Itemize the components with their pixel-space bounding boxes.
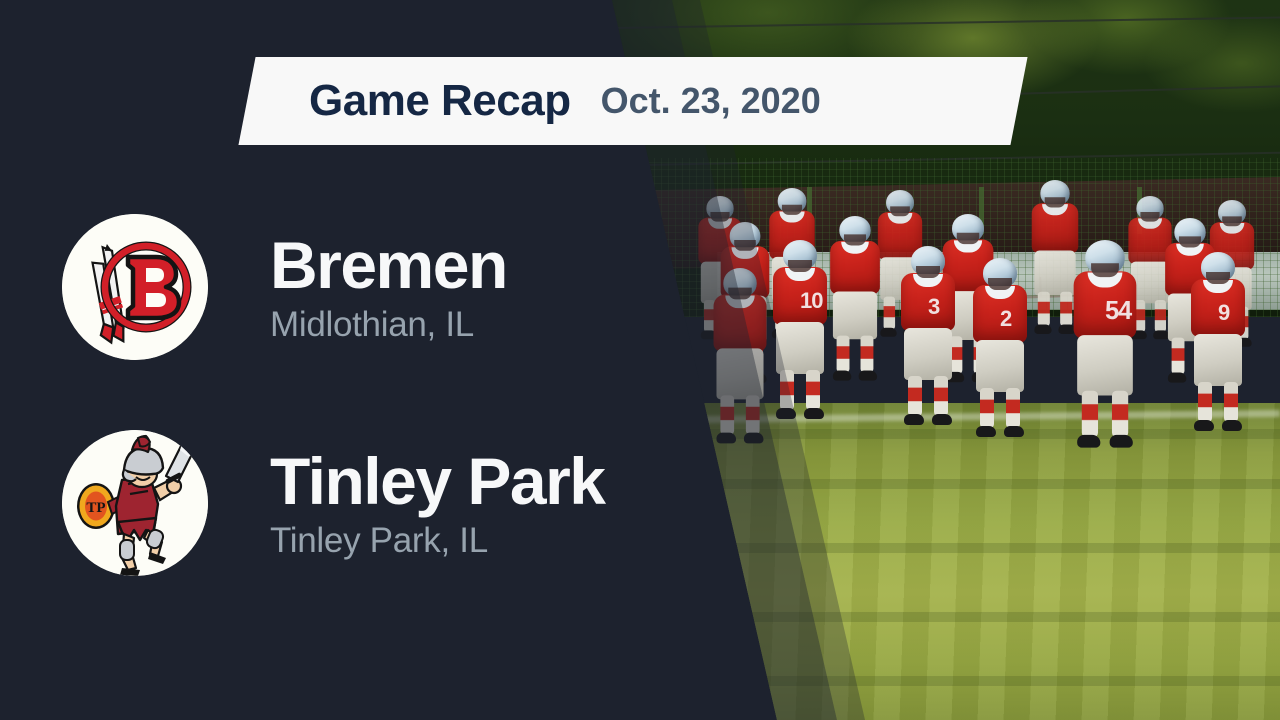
team-city: Tinley Park, IL	[270, 523, 604, 558]
team-row-bremen[interactable]: Bremen Midlothian, IL	[0, 214, 507, 360]
tinley-park-titans-logo: TP	[62, 430, 208, 576]
game-date: Oct. 23, 2020	[601, 83, 821, 119]
team-text-tinley-park: Tinley Park Tinley Park, IL	[270, 448, 604, 558]
game-recap-banner: Game Recap Oct. 23, 2020	[238, 57, 1027, 145]
svg-text:TP: TP	[86, 500, 105, 516]
team-name: Bremen	[270, 232, 507, 299]
team-text-bremen: Bremen Midlothian, IL	[270, 232, 507, 342]
page-title: Game Recap	[309, 79, 571, 123]
bremen-braves-logo	[62, 214, 208, 360]
game-recap-graphic: 10 3 2 54	[0, 0, 1280, 720]
team-name: Tinley Park	[270, 448, 604, 515]
team-row-tinley-park[interactable]: TP	[0, 430, 604, 576]
team-city: Midlothian, IL	[270, 307, 507, 342]
